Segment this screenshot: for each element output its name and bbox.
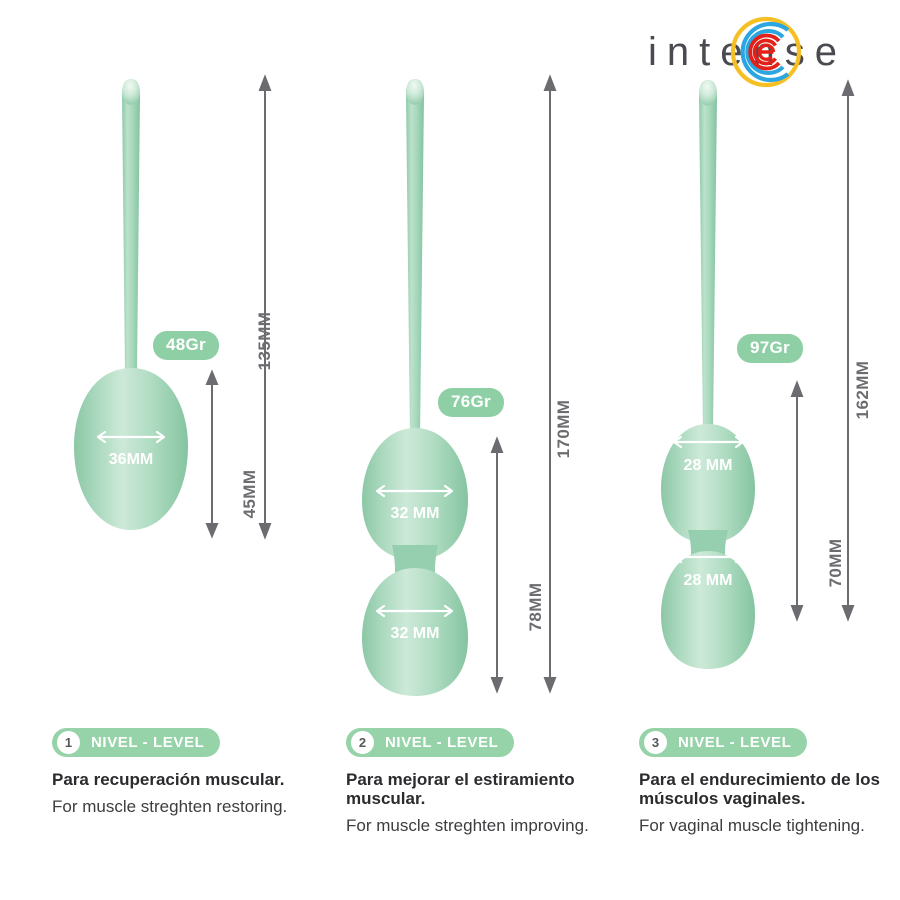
level-subtitle-en-2: For muscle streghten improving. [346,815,621,836]
ball-label-3b: 28 MM [684,572,733,589]
level-info-block-1: 1 NIVEL - LEVEL Para recuperación muscul… [52,728,327,817]
dimension-label-ball-height-1: 45MM [240,454,260,534]
weight-badge-2: 76Gr [438,388,504,417]
ball-label-1a: 36MM [109,451,153,468]
dimension-label-balls-height-3: 70MM [826,523,846,603]
level-info-block-3: 3 NIVEL - LEVEL Para el endurecimiento d… [639,728,900,836]
level-title-es-3: Para el endurecimiento de los músculos v… [639,770,900,808]
ball-label-2a: 32 MM [391,505,440,522]
dimension-label-total-length-2: 170MM [554,384,574,474]
level-badge-1: 1 NIVEL - LEVEL [52,728,220,757]
level-number-3: 3 [642,729,669,756]
level-title-es-1: Para recuperación muscular. [52,770,327,789]
level-badge-3: 3 NIVEL - LEVEL [639,728,807,757]
level-number-2: 2 [349,729,376,756]
dimension-label-total-length-3: 162MM [853,345,873,435]
weight-badge-1: 48Gr [153,331,219,360]
product-column-3: 28 MM 28 MM 97Gr 70MM 162MM [590,0,890,715]
level-info-block-2: 2 NIVEL - LEVEL Para mejorar el estirami… [346,728,621,836]
ball-label-3a: 28 MM [684,457,733,474]
ball-label-2b: 32 MM [391,625,440,642]
level-subtitle-en-3: For vaginal muscle tightening. [639,815,900,836]
level-badge-text-3: NIVEL - LEVEL [678,734,791,751]
dimension-label-total-length-1: 135MM [255,301,275,381]
dimension-label-balls-height-2: 78MM [526,567,546,647]
product-column-1: 36MM 48Gr 45MM 135MM [0,0,300,715]
level-subtitle-en-1: For muscle streghten restoring. [52,796,327,817]
product-spec-infographic: intense [0,0,900,900]
weight-badge-3: 97Gr [737,334,803,363]
level-number-1: 1 [55,729,82,756]
device-illustration-2: 32 MM 32 MM [296,0,596,715]
level-badge-text-1: NIVEL - LEVEL [91,734,204,751]
product-column-2: 32 MM 32 MM 76Gr 78MM 170MM [296,0,596,715]
level-title-es-2: Para mejorar el estiramiento muscular. [346,770,621,808]
level-badge-text-2: NIVEL - LEVEL [385,734,498,751]
level-badge-2: 2 NIVEL - LEVEL [346,728,514,757]
